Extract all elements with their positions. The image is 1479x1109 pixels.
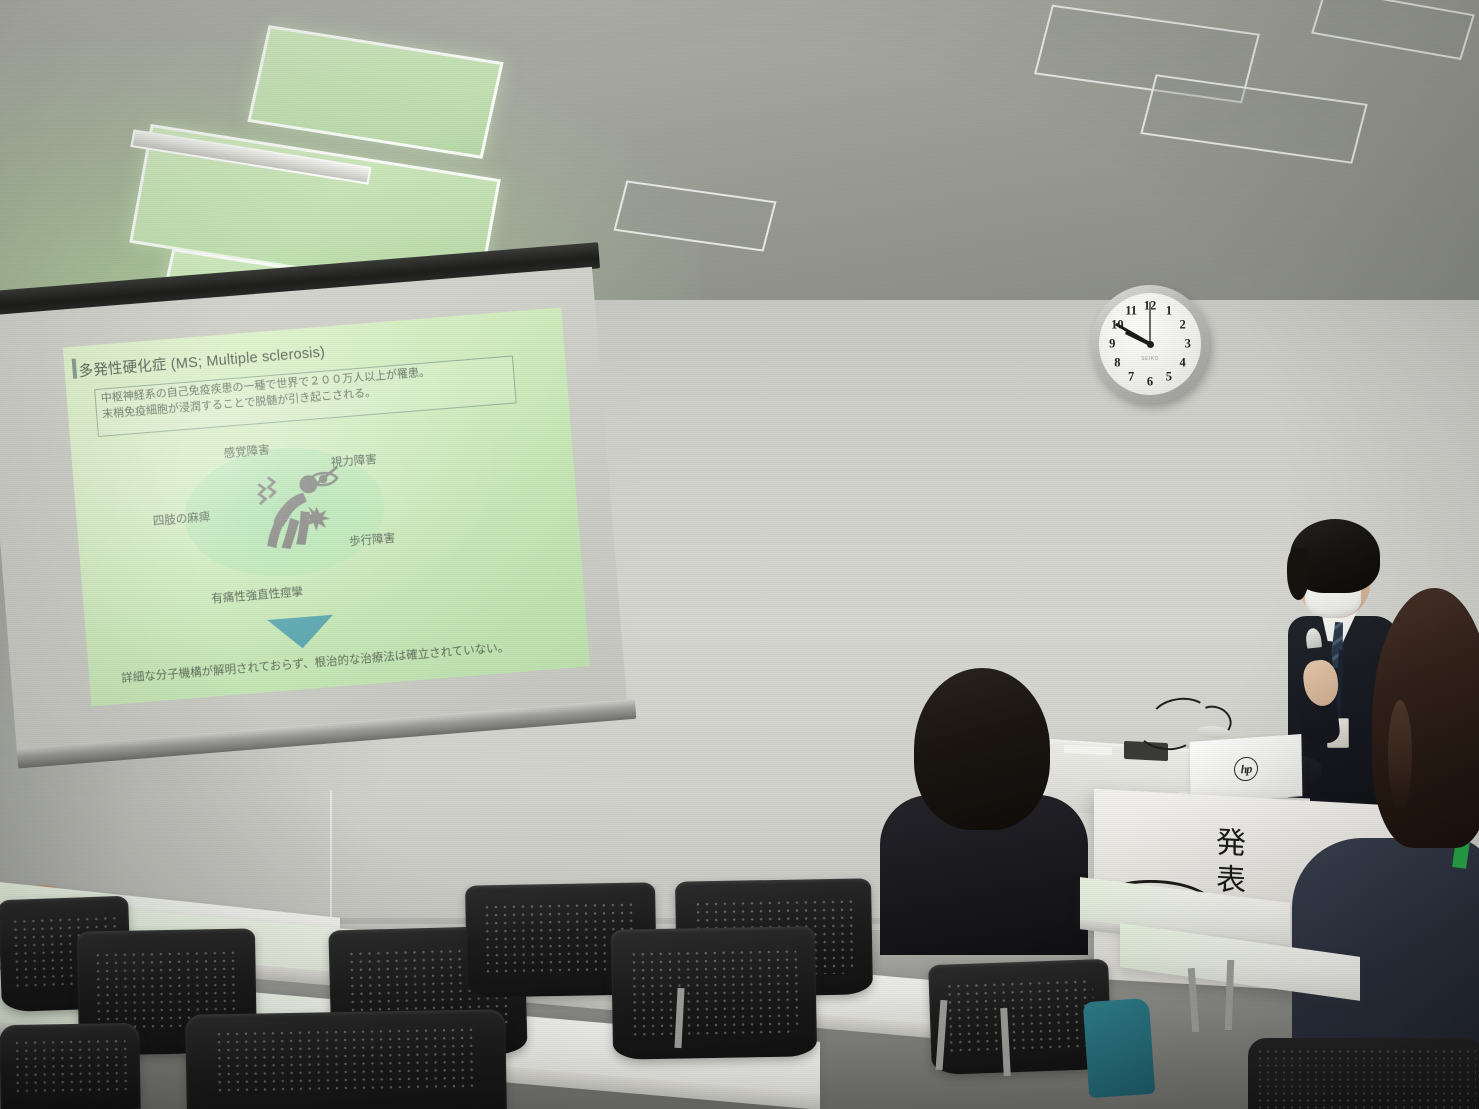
presenter-hair-side	[1287, 548, 1309, 600]
clock-numeral: 4	[1175, 355, 1191, 370]
podium-sign-char-1: 発	[1216, 828, 1246, 860]
presentation-slide: 多発性硬化症 (MS; Multiple sclerosis) 中枢神経系の自己…	[63, 307, 590, 706]
symptom-label-gait: 歩行障害	[349, 530, 396, 550]
bag-under-desk	[1083, 998, 1156, 1098]
foreground-attendee-hair-strand	[1388, 700, 1412, 810]
foreground-chair-back[interactable]	[1248, 1038, 1479, 1109]
lecture-room-photo: 多発性硬化症 (MS; Multiple sclerosis) 中枢神経系の自己…	[0, 0, 1479, 1109]
chair-frame	[0, 1023, 141, 1109]
symptom-label-painful-spasm: 有痛性強直性痙攣	[211, 583, 304, 606]
clock-face: 12 1 2 3 4 5 6 7 8 9 10 11 SEIKO	[1099, 293, 1201, 395]
hp-logo-icon: hp	[1234, 756, 1258, 782]
chair[interactable]	[185, 1009, 507, 1109]
symptom-label-vision: 視力障害	[330, 451, 377, 471]
audience-hair	[914, 668, 1050, 830]
laptop[interactable]: hp	[1190, 734, 1303, 804]
down-arrow-icon	[267, 615, 335, 651]
clock-numeral: 11	[1123, 304, 1139, 319]
clock-numeral: 1	[1161, 304, 1177, 319]
clock-numeral: 2	[1175, 318, 1191, 333]
clock-numeral: 7	[1123, 369, 1139, 384]
clock-numeral: 8	[1109, 355, 1125, 370]
projection-screen: 多発性硬化症 (MS; Multiple sclerosis) 中枢神経系の自己…	[0, 242, 638, 790]
podium-sign-char-2: 表	[1216, 865, 1246, 897]
chair[interactable]	[0, 1023, 141, 1109]
clock-numeral: 6	[1142, 374, 1158, 389]
clock-center-pin	[1147, 341, 1154, 348]
wall-clock: 12 1 2 3 4 5 6 7 8 9 10 11 SEIKO	[1091, 285, 1209, 403]
slide-title-accent-bar	[72, 359, 78, 379]
clock-numeral: 3	[1180, 337, 1196, 352]
clock-numeral: 9	[1104, 337, 1120, 352]
clock-brand-text: SEIKO	[1141, 356, 1159, 362]
chair[interactable]	[611, 926, 817, 1060]
clock-numeral: 5	[1161, 369, 1177, 384]
foreground-chair-mesh	[1256, 1048, 1476, 1109]
chair-frame	[611, 926, 817, 1060]
chair-frame	[185, 1009, 507, 1109]
